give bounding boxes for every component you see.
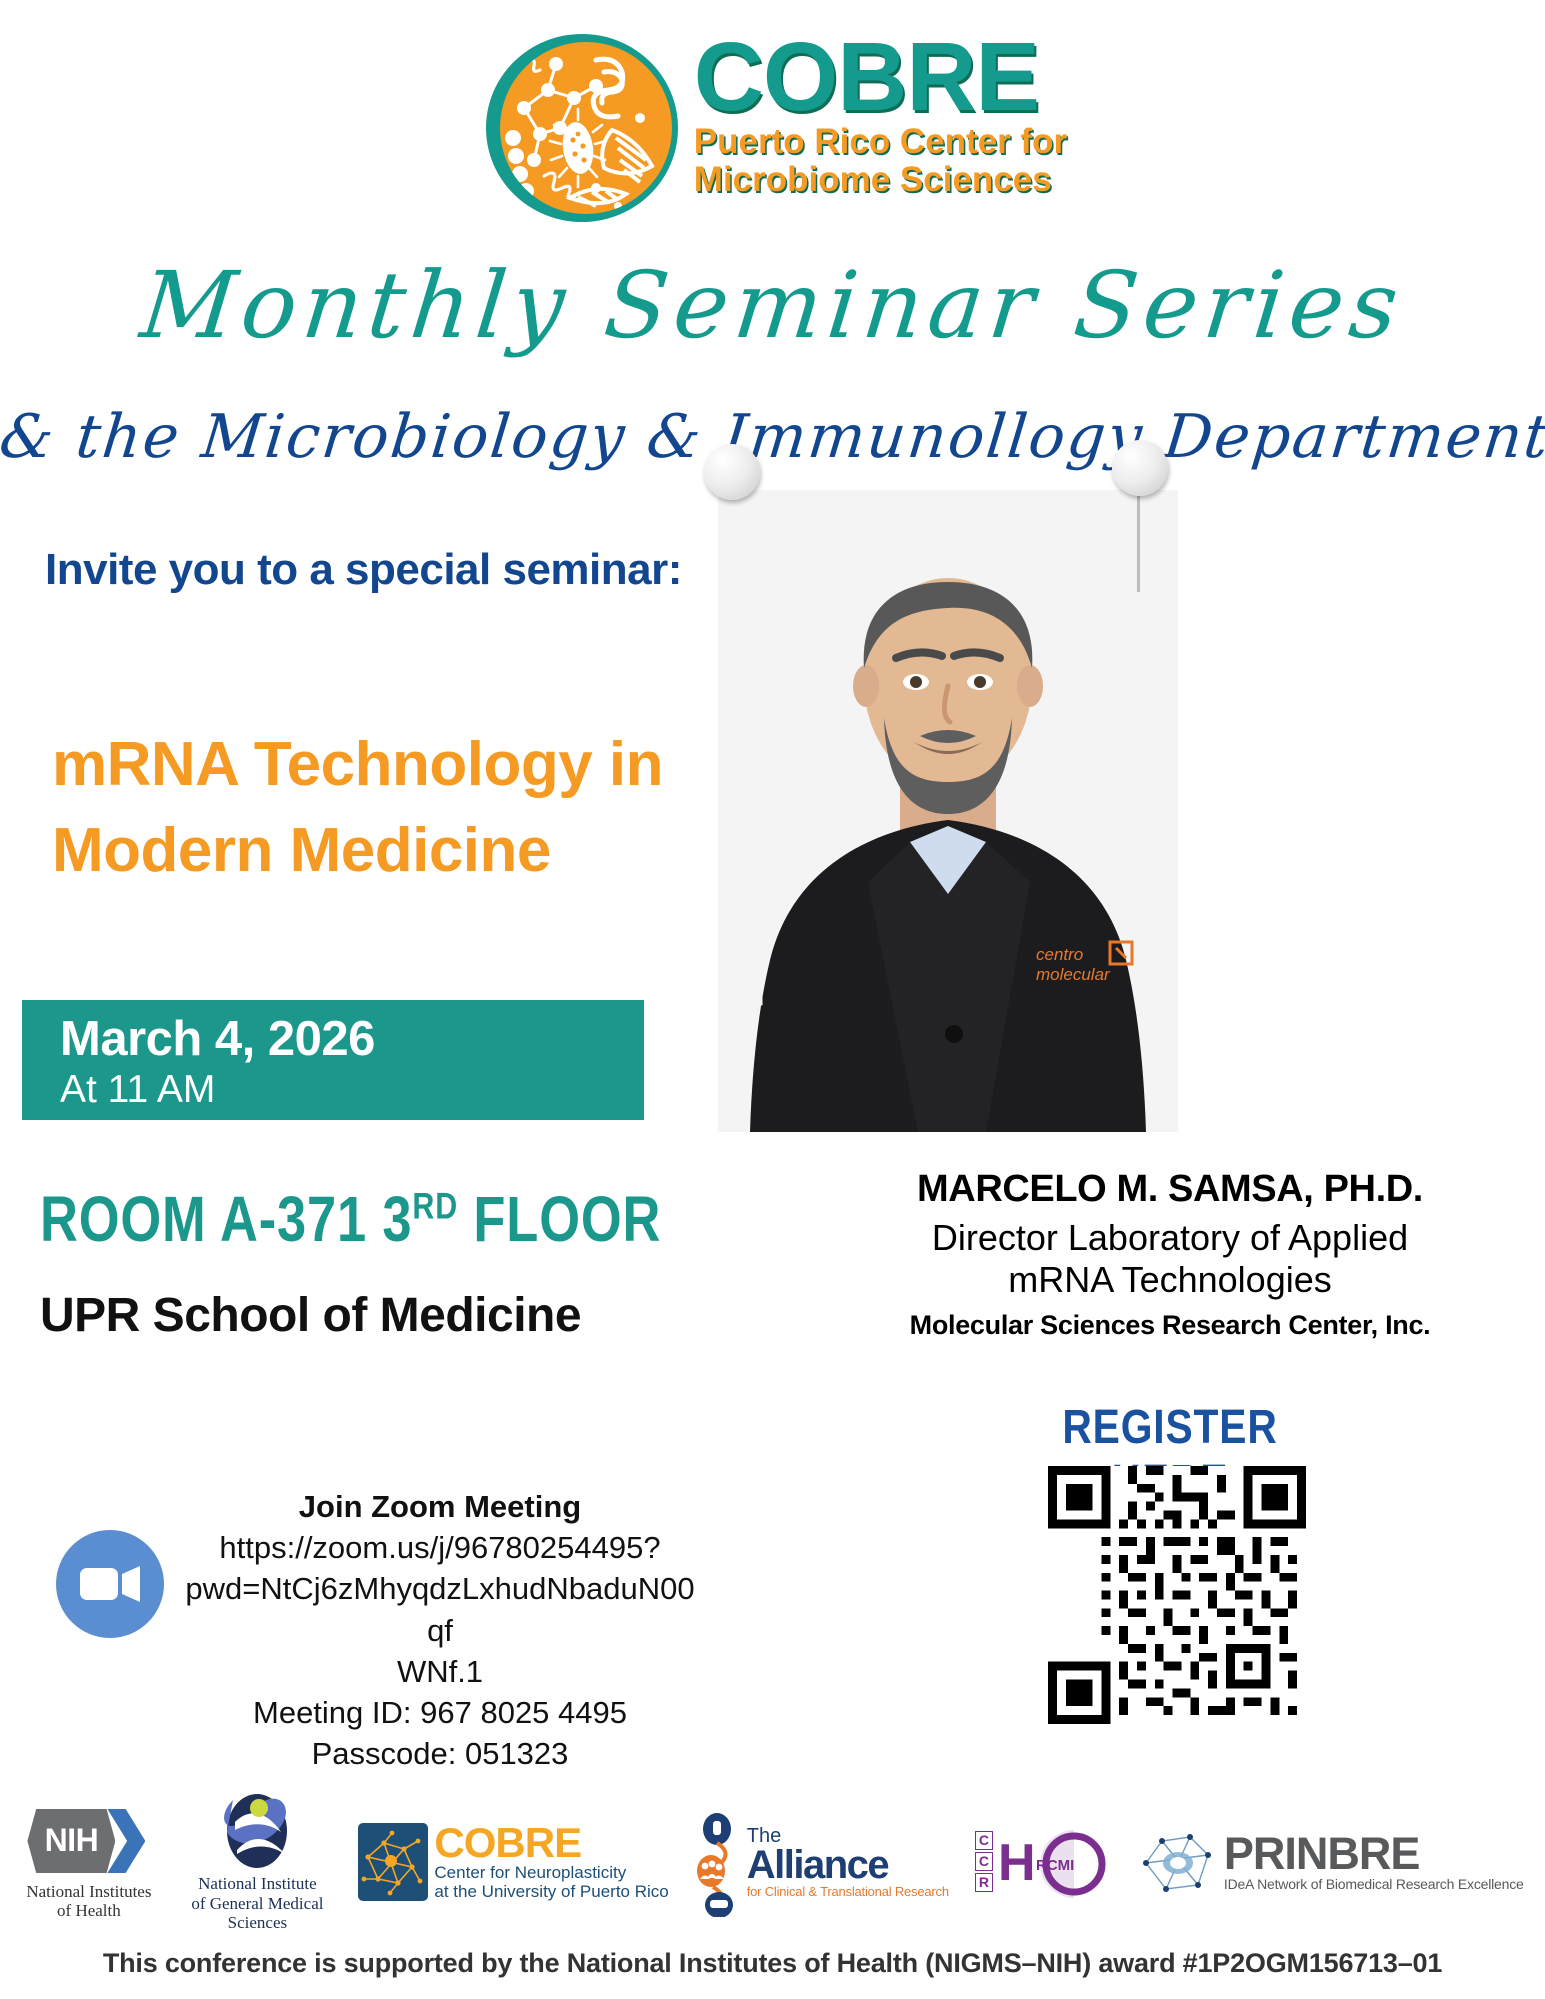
cobre-neuro-text: COBRE Center for Neuroplasticity at the … [434,1823,668,1902]
speaker-name: MARCELO M. SAMSA, PH.D. [860,1168,1480,1211]
cobre-tagline-line2: Microbiome Sciences [694,161,1067,199]
alliance-links-icon [695,1813,743,1917]
cobre-tagline-line1: Puerto Rico Center for [694,123,1067,161]
zoom-camera-glyph [80,1564,142,1604]
cobre-neuro-wordmark: COBRE [434,1823,668,1863]
register-qr-code[interactable] [1048,1466,1306,1724]
zoom-passcode: Passcode: 051323 [180,1733,700,1774]
sponsor-logo-row: NIH National Institutes of Health Nation… [0,1780,1545,1945]
logo-orange-disc [500,42,672,214]
ccr-letter-1: C [975,1831,993,1850]
date-time-block: March 4, 2026 At 11 AM [22,1000,644,1120]
nih-caption-line1: National Institutes [21,1882,156,1901]
zoom-camera-icon [56,1530,164,1638]
alliance-logo: The Alliance for Clinical & Translationa… [695,1813,949,1913]
cobre-wordmark: COBRE [694,32,1067,121]
zoom-url-line2[interactable]: pwd=NtCj6zMhyqdzLxhudNbaduN00qf [180,1568,700,1650]
nigms-caption-line2: of General Medical [182,1894,332,1914]
ccr-letter-2: C [975,1852,993,1871]
zoom-meeting-details: Join Zoom Meeting https://zoom.us/j/9678… [180,1486,700,1775]
prinbre-mark-icon [1140,1827,1218,1899]
ccr-rcmi-logo: C C R H RCMI [975,1828,1114,1898]
rcmi-hd-icon: H RCMI [996,1828,1114,1898]
ccr-letters: C C R [975,1831,993,1893]
alliance-wordmark: Alliance [747,1846,949,1884]
zoom-heading: Join Zoom Meeting [180,1486,700,1527]
speaker-role-line1: Director Laboratory of Applied [860,1217,1480,1259]
event-room: ROOM A-371 3RD FLOOR [40,1182,661,1256]
nigms-logo-mark [182,1792,332,1870]
event-room-suffix: FLOOR [458,1183,661,1255]
speaker-photo-area: centro molecular [700,440,1200,1140]
svg-text:molecular: molecular [1036,965,1111,984]
svg-text:H: H [998,1834,1036,1892]
alliance-sub: for Clinical & Translational Research [747,1884,949,1899]
nih-caption: National Institutes of Health [21,1882,156,1920]
nigms-caption-line1: National Institute [182,1874,332,1894]
qr-code-icon [1048,1466,1306,1724]
event-venue: UPR School of Medicine [40,1288,581,1343]
event-room-prefix: ROOM A-371 3 [40,1183,412,1255]
nigms-caption: National Institute of General Medical Sc… [182,1874,332,1933]
nih-logo: NIH National Institutes of Health [21,1805,156,1920]
alliance-chain-icon [695,1813,743,1913]
cobre-logo-mark [478,28,688,228]
talk-title-line1: mRNA Technology in [52,722,742,808]
zoom-url-line3[interactable]: WNf.1 [180,1651,700,1692]
cobre-logo-text: COBRE Puerto Rico Center for Microbiome … [694,28,1067,199]
event-date: March 4, 2026 [60,1012,644,1067]
rcmi-label: RCMI [1036,1857,1074,1874]
seminar-series-heading: Monthly Seminar Series [0,252,1545,359]
speaker-portrait: centro molecular [718,490,1178,1132]
nih-caption-line2: of Health [21,1901,156,1920]
nih-logo-mark: NIH [21,1805,156,1877]
cobre-tagline: Puerto Rico Center for Microbiome Scienc… [694,123,1067,199]
prinbre-sub: IDeA Network of Biomedical Research Exce… [1224,1876,1524,1892]
cobre-neuroplasticity-logo: COBRE Center for Neuroplasticity at the … [358,1823,668,1902]
magnet-pin-right-icon [1112,440,1168,496]
ccr-letter-3: R [975,1873,993,1892]
talk-title-line2: Modern Medicine [52,808,742,894]
alliance-text: The Alliance for Clinical & Translationa… [747,1827,949,1899]
event-room-ordinal: RD [412,1185,458,1227]
cobre-neuro-sub-line2: at the University of Puerto Rico [434,1882,668,1901]
zoom-url-line1[interactable]: https://zoom.us/j/96780254495? [180,1527,700,1568]
speaker-organization: Molecular Sciences Research Center, Inc. [860,1310,1480,1341]
nih-wordmark: NIH [27,1809,115,1873]
nigms-emblem-icon [207,1792,307,1870]
prinbre-logo: PRINBRE IDeA Network of Biomedical Resea… [1140,1827,1524,1899]
pin-thread [1137,480,1140,592]
microbiome-illustration-icon [500,42,672,214]
nigms-caption-line3: Sciences [182,1913,332,1933]
speaker-role-line2: mRNA Technologies [860,1259,1480,1301]
cobre-neuro-sub-line1: Center for Neuroplasticity [434,1863,668,1882]
speaker-portrait-illustration: centro molecular [718,490,1178,1132]
magnet-pin-left-icon [704,444,760,500]
zoom-meeting-id: Meeting ID: 967 8025 4495 [180,1692,700,1733]
prinbre-wordmark: PRINBRE [1224,1833,1524,1876]
talk-title: mRNA Technology in Modern Medicine [52,722,742,893]
speaker-role: Director Laboratory of Applied mRNA Tech… [860,1217,1480,1302]
speaker-caption: MARCELO M. SAMSA, PH.D. Director Laborat… [860,1168,1480,1341]
brain-network-icon [358,1823,428,1901]
nigms-logo: National Institute of General Medical Sc… [182,1792,332,1933]
prinbre-text: PRINBRE IDeA Network of Biomedical Resea… [1224,1833,1524,1892]
cobre-neuro-badge-icon [358,1823,428,1901]
rcmi-hd-mark: H RCMI [996,1828,1114,1898]
event-time: At 11 AM [60,1069,644,1112]
cobre-logo-header: COBRE Puerto Rico Center for Microbiome … [0,28,1545,228]
invite-line: Invite you to a special seminar: [45,545,682,595]
prinbre-network-icon [1140,1827,1218,1899]
support-statement: This conference is supported by the Nati… [0,1948,1545,1979]
svg-text:centro: centro [1036,945,1083,964]
